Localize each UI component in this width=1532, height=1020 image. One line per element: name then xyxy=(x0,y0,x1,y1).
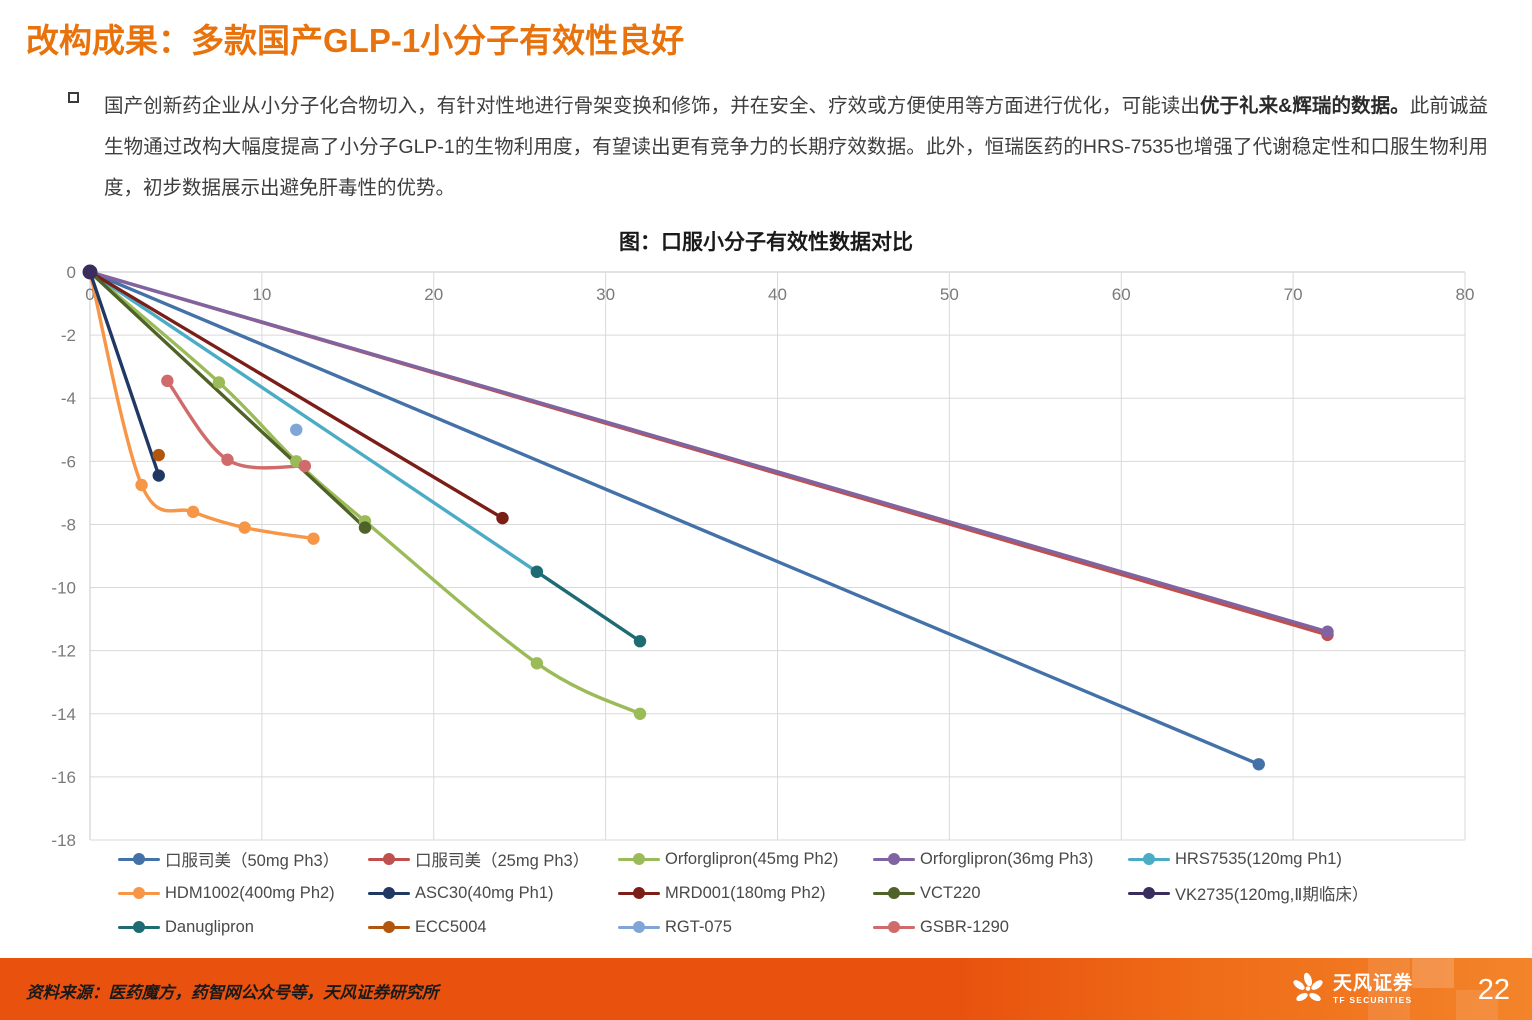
legend-item[interactable]: 口服司美（25mg Ph3） xyxy=(368,847,618,871)
series-marker xyxy=(221,454,233,466)
legend-dot xyxy=(383,853,395,865)
bullet-text-bold: 优于礼来&辉瑞的数据。 xyxy=(1200,95,1410,117)
brand-text: 天风证券 TF SECURITIES xyxy=(1333,974,1413,1005)
legend-dot xyxy=(633,887,645,899)
legend-dot xyxy=(133,887,145,899)
series-marker xyxy=(161,375,173,387)
y-tick-label: -6 xyxy=(61,452,76,471)
y-tick-label: 0 xyxy=(67,263,76,282)
y-tick-label: -4 xyxy=(61,389,76,408)
legend-swatch-icon xyxy=(618,852,660,866)
series-marker xyxy=(307,532,319,544)
legend-label: 口服司美（25mg Ph3） xyxy=(415,847,589,871)
legend-swatch-icon xyxy=(1128,886,1170,900)
x-tick-label: 50 xyxy=(940,285,959,304)
series-line xyxy=(90,272,537,572)
legend-label: VK2735(120mg,Ⅱ期临床） xyxy=(1175,881,1368,905)
footer-bar: 资料来源：医药魔方，药智网公众号等，天风证券研究所 天风证券 TF SECUR xyxy=(0,958,1532,1020)
legend-swatch-icon xyxy=(618,920,660,934)
source-note: 资料来源：医药魔方，药智网公众号等，天风证券研究所 xyxy=(26,979,439,1003)
legend-item[interactable]: GSBR-1290 xyxy=(873,918,1128,937)
series-line xyxy=(90,272,1259,764)
legend-item[interactable]: ASC30(40mg Ph1) xyxy=(368,884,618,903)
series-line xyxy=(90,272,640,714)
series-marker xyxy=(496,512,508,524)
x-axis-labels: 01020304050607080 xyxy=(85,285,1474,304)
chart-container: 0-2-4-6-8-10-12-14-16-180102030405060708… xyxy=(0,256,1532,856)
brand-name-en: TF SECURITIES xyxy=(1333,996,1413,1005)
legend-item[interactable]: MRD001(180mg Ph2) xyxy=(618,884,873,903)
legend-label: HRS7535(120mg Ph1) xyxy=(1175,850,1342,869)
legend-dot xyxy=(383,921,395,933)
slide-page: 改构成果：多款国产GLP-1小分子有效性良好 国产创新药企业从小分子化合物切入，… xyxy=(0,0,1532,1020)
legend-label: RGT-075 xyxy=(665,918,732,937)
legend-dot xyxy=(888,853,900,865)
x-tick-label: 60 xyxy=(1112,285,1131,304)
legend-dot xyxy=(133,921,145,933)
series-marker xyxy=(187,506,199,518)
series-marker xyxy=(531,657,543,669)
legend-item[interactable]: Danuglipron xyxy=(118,918,368,937)
legend-item[interactable]: 口服司美（50mg Ph3） xyxy=(118,847,368,871)
brand-name-cn: 天风证券 xyxy=(1333,974,1413,993)
legend-dot xyxy=(383,887,395,899)
chart-caption: 图：口服小分子有效性数据对比 xyxy=(0,226,1532,256)
legend-item[interactable]: RGT-075 xyxy=(618,918,873,937)
y-axis-labels: 0-2-4-6-8-10-12-14-16-18 xyxy=(51,263,76,850)
legend-label: HDM1002(400mg Ph2) xyxy=(165,884,335,903)
legend-item[interactable]: Orforglipron(45mg Ph2) xyxy=(618,850,873,869)
legend-label: ECC5004 xyxy=(415,918,487,937)
series-marker xyxy=(299,460,311,472)
legend-swatch-icon xyxy=(118,920,160,934)
legend-swatch-icon xyxy=(873,852,915,866)
legend-item[interactable]: ECC5004 xyxy=(368,918,618,937)
legend-dot xyxy=(633,921,645,933)
series-marker xyxy=(213,376,225,388)
tf-flower-icon xyxy=(1290,971,1326,1007)
page-number: 22 xyxy=(1478,974,1510,1007)
legend-swatch-icon xyxy=(368,920,410,934)
chart-series-markers xyxy=(83,265,1334,771)
legend-dot xyxy=(1143,887,1155,899)
series-marker xyxy=(153,449,165,461)
x-tick-label: 80 xyxy=(1456,285,1475,304)
legend-item[interactable]: VK2735(120mg,Ⅱ期临床） xyxy=(1128,881,1388,905)
legend-item[interactable]: Orforglipron(36mg Ph3) xyxy=(873,850,1128,869)
brand-logo: 天风证券 TF SECURITIES xyxy=(1290,971,1413,1007)
y-tick-label: -18 xyxy=(51,831,76,850)
x-tick-label: 20 xyxy=(424,285,443,304)
series-line xyxy=(167,381,304,468)
series-marker xyxy=(634,708,646,720)
series-marker xyxy=(238,521,250,533)
chart-series-lines xyxy=(90,272,1328,764)
legend-item[interactable]: HRS7535(120mg Ph1) xyxy=(1128,850,1388,869)
chart-legend: 口服司美（50mg Ph3）口服司美（25mg Ph3）Orforglipron… xyxy=(118,842,1438,944)
legend-dot xyxy=(1143,853,1155,865)
series-line xyxy=(90,272,313,539)
legend-swatch-icon xyxy=(618,886,660,900)
series-marker xyxy=(83,265,98,280)
legend-dot xyxy=(133,853,145,865)
x-tick-label: 30 xyxy=(596,285,615,304)
x-tick-label: 40 xyxy=(768,285,787,304)
bullet-block: 国产创新药企业从小分子化合物切入，有针对性地进行骨架变换和修饰，并在安全、疗效或… xyxy=(68,86,1488,209)
y-tick-label: -16 xyxy=(51,768,76,787)
series-line xyxy=(90,272,503,518)
series-marker xyxy=(359,521,371,533)
legend-item[interactable]: HDM1002(400mg Ph2) xyxy=(118,884,368,903)
y-tick-label: -14 xyxy=(51,705,76,724)
x-tick-label: 70 xyxy=(1284,285,1303,304)
series-marker xyxy=(1253,758,1265,770)
legend-label: MRD001(180mg Ph2) xyxy=(665,884,826,903)
series-marker xyxy=(153,469,165,481)
legend-label: ASC30(40mg Ph1) xyxy=(415,884,554,903)
legend-swatch-icon xyxy=(118,886,160,900)
series-marker xyxy=(531,566,543,578)
bullet-square-icon xyxy=(68,92,79,103)
legend-swatch-icon xyxy=(368,852,410,866)
y-tick-label: -12 xyxy=(51,642,76,661)
legend-dot xyxy=(888,921,900,933)
series-marker xyxy=(634,635,646,647)
page-title: 改构成果：多款国产GLP-1小分子有效性良好 xyxy=(26,14,684,62)
bullet-text-part1: 国产创新药企业从小分子化合物切入，有针对性地进行骨架变换和修饰，并在安全、疗效或… xyxy=(104,95,1200,117)
series-marker xyxy=(135,479,147,491)
legend-swatch-icon xyxy=(118,852,160,866)
series-line xyxy=(90,272,1328,632)
x-tick-label: 10 xyxy=(252,285,271,304)
legend-label: Orforglipron(36mg Ph3) xyxy=(920,850,1093,869)
legend-swatch-icon xyxy=(873,920,915,934)
legend-item[interactable]: VCT220 xyxy=(873,884,1128,903)
legend-swatch-icon xyxy=(368,886,410,900)
legend-label: GSBR-1290 xyxy=(920,918,1009,937)
footer-deco-square xyxy=(1412,958,1454,988)
legend-label: 口服司美（50mg Ph3） xyxy=(165,847,339,871)
legend-swatch-icon xyxy=(1128,852,1170,866)
y-tick-label: -8 xyxy=(61,515,76,534)
legend-dot xyxy=(888,887,900,899)
legend-label: VCT220 xyxy=(920,884,981,903)
bullet-paragraph: 国产创新药企业从小分子化合物切入，有针对性地进行骨架变换和修饰，并在安全、疗效或… xyxy=(104,86,1488,209)
y-tick-label: -10 xyxy=(51,579,76,598)
series-marker xyxy=(290,424,302,436)
legend-label: Danuglipron xyxy=(165,918,254,937)
series-line xyxy=(537,572,640,641)
line-chart: 0-2-4-6-8-10-12-14-16-180102030405060708… xyxy=(0,256,1532,856)
legend-label: Orforglipron(45mg Ph2) xyxy=(665,850,838,869)
legend-dot xyxy=(633,853,645,865)
series-marker xyxy=(1321,626,1333,638)
legend-swatch-icon xyxy=(873,886,915,900)
y-tick-label: -2 xyxy=(61,326,76,345)
